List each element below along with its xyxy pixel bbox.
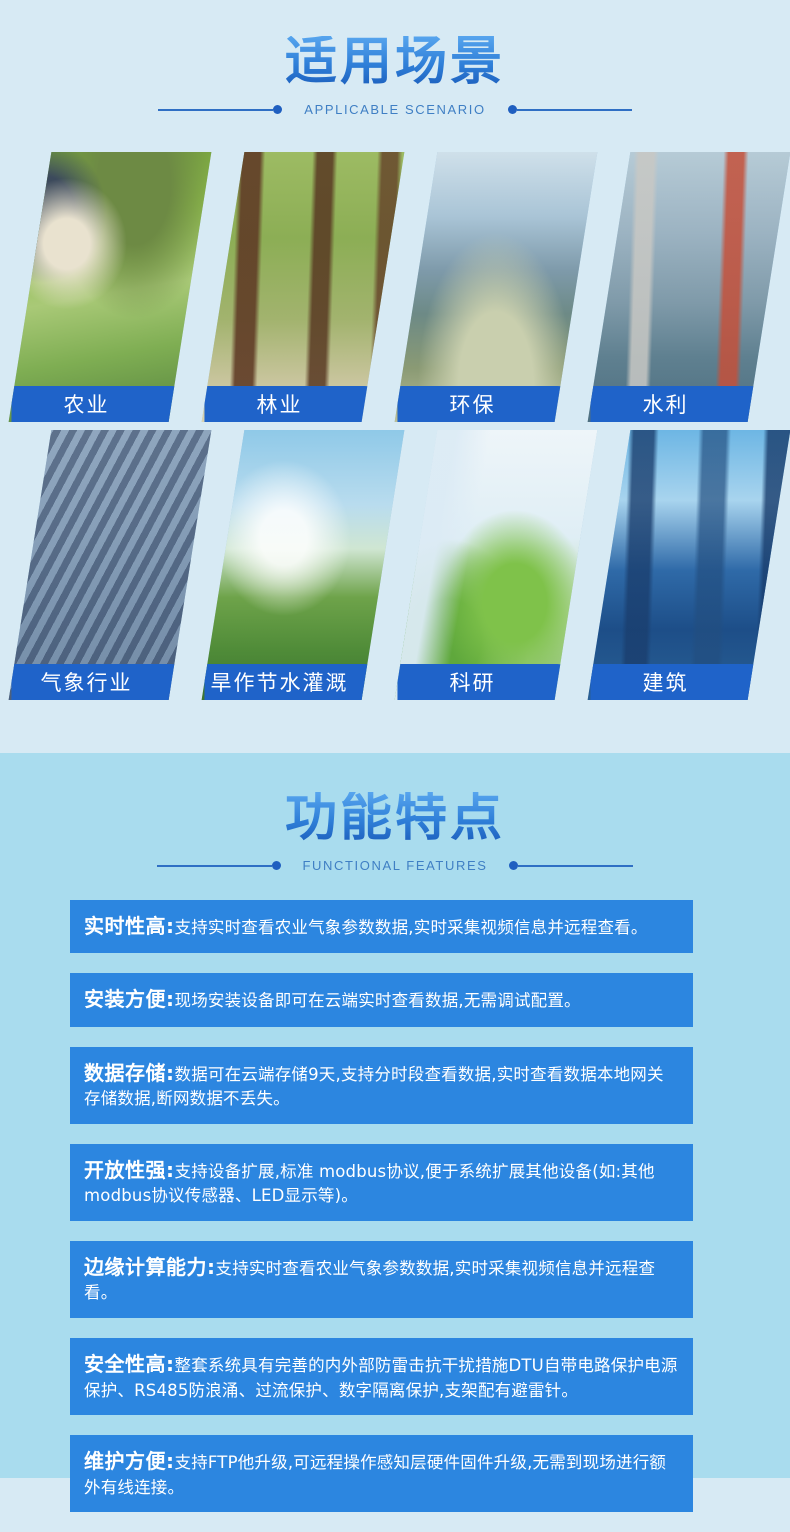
scenario-label-text-1: 林业 bbox=[256, 389, 302, 419]
scenario-label-4: 气象行业 bbox=[11, 664, 189, 700]
feature-title-6: 维护方便: bbox=[84, 1449, 175, 1473]
feature-card-6[interactable]: 维护方便:支持FTP他升级,可远程操作感知层硬件固件升级,无需到现场进行额外有线… bbox=[70, 1435, 693, 1512]
feature-card-4[interactable]: 边缘计算能力:支持实时查看农业气象参数数据,实时采集视频信息并远程查看。 bbox=[70, 1241, 693, 1318]
product-detail-page: 适用场景 APPLICABLE SCENARIO 农业 林业 环保 bbox=[0, 0, 790, 1478]
feature-card-0[interactable]: 实时性高:支持实时查看农业气象参数数据,实时采集视频信息并远程查看。 bbox=[70, 900, 693, 953]
scenario-label-text-2: 环保 bbox=[449, 389, 495, 419]
features-title: 功能特点 bbox=[0, 792, 790, 844]
scenario-label-1: 林业 bbox=[204, 386, 382, 422]
feature-card-list: 实时性高:支持实时查看农业气象参数数据,实时采集视频信息并远程查看。 安装方便:… bbox=[70, 900, 693, 1532]
decorative-line-right bbox=[517, 109, 632, 111]
decorative-dot-left-2 bbox=[272, 861, 281, 870]
scenario-subtitle-row: APPLICABLE SCENARIO bbox=[0, 102, 790, 117]
feature-title-0: 实时性高: bbox=[84, 914, 175, 938]
features-subtitle: FUNCTIONAL FEATURES bbox=[303, 858, 488, 873]
feature-body-0: 支持实时查看农业气象参数数据,实时采集视频信息并远程查看。 bbox=[175, 918, 648, 937]
scenario-label-text-6: 科研 bbox=[449, 667, 495, 697]
feature-card-1[interactable]: 安装方便:现场安装设备即可在云端实时查看数据,无需调试配置。 bbox=[70, 973, 693, 1026]
decorative-dot-right-2 bbox=[509, 861, 518, 870]
decorative-line-left-2 bbox=[157, 865, 272, 867]
scenario-label-6: 科研 bbox=[397, 664, 575, 700]
decorative-dot-left bbox=[273, 105, 282, 114]
scenario-label-text-0: 农业 bbox=[63, 389, 109, 419]
scenario-label-7: 建筑 bbox=[590, 664, 768, 700]
scenario-label-text-3: 水利 bbox=[642, 389, 688, 419]
scenario-label-text-4: 气象行业 bbox=[40, 667, 132, 697]
scenario-label-0: 农业 bbox=[11, 386, 189, 422]
scenario-label-2: 环保 bbox=[397, 386, 575, 422]
scenario-label-5: 旱作节水灌溉 bbox=[204, 664, 382, 700]
decorative-dot-right bbox=[508, 105, 517, 114]
scenario-label-3: 水利 bbox=[590, 386, 768, 422]
feature-card-5[interactable]: 安全性高:整套系统具有完善的内外部防雷击抗干扰措施DTU自带电路保护电源保护、R… bbox=[70, 1338, 693, 1415]
scenario-label-text-7: 建筑 bbox=[642, 667, 688, 697]
scenario-subtitle: APPLICABLE SCENARIO bbox=[304, 102, 485, 117]
feature-body-1: 现场安装设备即可在云端实时查看数据,无需调试配置。 bbox=[175, 991, 581, 1010]
scenario-title: 适用场景 bbox=[0, 36, 790, 88]
feature-title-4: 边缘计算能力: bbox=[84, 1255, 216, 1279]
scenario-section-header: 适用场景 APPLICABLE SCENARIO bbox=[0, 36, 790, 117]
feature-title-5: 安全性高: bbox=[84, 1352, 175, 1376]
features-subtitle-row: FUNCTIONAL FEATURES bbox=[0, 858, 790, 873]
decorative-line-left bbox=[158, 109, 273, 111]
feature-title-1: 安装方便: bbox=[84, 987, 175, 1011]
feature-title-3: 开放性强: bbox=[84, 1158, 175, 1182]
scenario-label-text-5: 旱作节水灌溉 bbox=[210, 667, 348, 697]
feature-card-3[interactable]: 开放性强:支持设备扩展,标准 modbus协议,便于系统扩展其他设备(如:其他m… bbox=[70, 1144, 693, 1221]
feature-card-2[interactable]: 数据存储:数据可在云端存储9天,支持分时段查看数据,实时查看数据本地网关存储数据… bbox=[70, 1047, 693, 1124]
decorative-line-right-2 bbox=[518, 865, 633, 867]
feature-title-2: 数据存储: bbox=[84, 1061, 175, 1085]
features-section-header: 功能特点 FUNCTIONAL FEATURES bbox=[0, 792, 790, 873]
